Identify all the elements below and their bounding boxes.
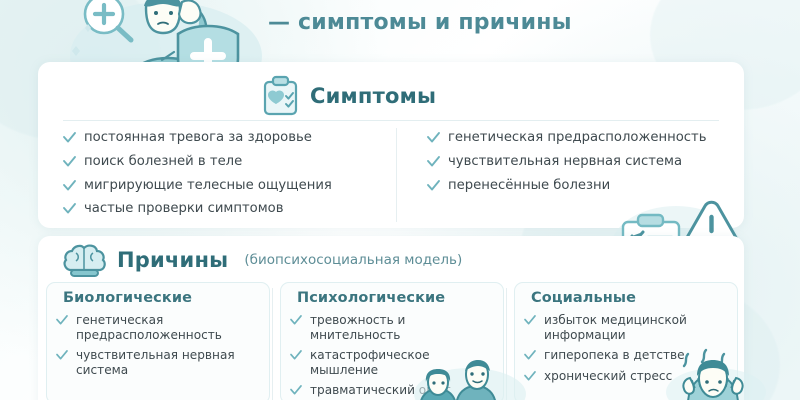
list-item-label: генетическая предрасположенность: [76, 313, 262, 342]
list-item: избыток медицинской информации: [524, 313, 730, 342]
check-icon: [63, 180, 76, 191]
list-item: частые проверки симптомов: [63, 201, 393, 216]
causes-column-biological: Биологические генетическая предрасположе…: [46, 282, 270, 400]
causes-subtitle: (биопсихосоциальная модель): [244, 252, 462, 268]
brain-icon: [62, 243, 106, 277]
symptoms-divider: [63, 120, 719, 121]
list-item-label: чувствительная нервная система: [448, 154, 682, 169]
check-icon: [427, 180, 440, 191]
symptoms-heading: Симптомы: [310, 84, 436, 108]
list-item: генетическая предрасположенность: [56, 313, 262, 342]
check-icon: [524, 315, 536, 325]
list-item: поиск болезней в теле: [63, 154, 393, 169]
check-icon: [290, 315, 302, 325]
check-icon: [427, 132, 440, 143]
list-item-label: чувствительная нервная система: [76, 348, 262, 377]
list-item-label: частые проверки симптомов: [84, 201, 284, 216]
causes-section-header: Причины (биопсихосоциальная модель): [62, 243, 462, 277]
symptoms-column-left: постоянная тревога за здоровье поиск бол…: [63, 130, 393, 222]
list-item-label: тревожность и мнительность: [310, 313, 496, 342]
list-item: перенесённые болезни: [427, 178, 723, 193]
check-icon: [56, 350, 68, 360]
column-title: Социальные: [531, 290, 730, 306]
check-icon: [56, 315, 68, 325]
check-icon: [63, 203, 76, 214]
list-item: тревожность и мнительность: [290, 313, 496, 342]
list-item-label: постоянная тревога за здоровье: [84, 130, 312, 145]
symptoms-section-header: Симптомы: [262, 76, 436, 116]
list-item-label: избыток медицинской информации: [544, 313, 730, 342]
stressed-woman-illustration: [660, 352, 780, 400]
check-icon: [290, 350, 302, 360]
column-title: Биологические: [63, 290, 262, 306]
infographic-canvas: — симптомы и причины Симптомы постоянная…: [0, 0, 800, 400]
check-icon: [63, 132, 76, 143]
list-item: чувствительная нервная система: [427, 154, 723, 169]
list-item-label: поиск болезней в теле: [84, 154, 242, 169]
column-title: Психологические: [297, 290, 496, 306]
list-item: постоянная тревога за здоровье: [63, 130, 393, 145]
couple-illustration: [404, 358, 534, 400]
list-item: мигрирующие телесные ощущения: [63, 178, 393, 193]
check-icon: [427, 156, 440, 167]
list-item-label: мигрирующие телесные ощущения: [84, 178, 332, 193]
clipboard-heart-icon: [262, 76, 299, 116]
causes-heading: Причины: [117, 248, 228, 272]
list-item-label: перенесённые болезни: [448, 178, 610, 193]
causes-columns-container: Биологические генетическая предрасположе…: [46, 282, 738, 400]
list-item: чувствительная нервная система: [56, 348, 262, 377]
list-item-label: хронический стресс: [544, 369, 672, 384]
list-item-label: генетическая предрасположенность: [448, 130, 706, 145]
page-title: — симптомы и причины: [268, 2, 728, 42]
check-icon: [290, 385, 302, 395]
list-item: генетическая предрасположенность: [427, 130, 723, 145]
check-icon: [63, 156, 76, 167]
